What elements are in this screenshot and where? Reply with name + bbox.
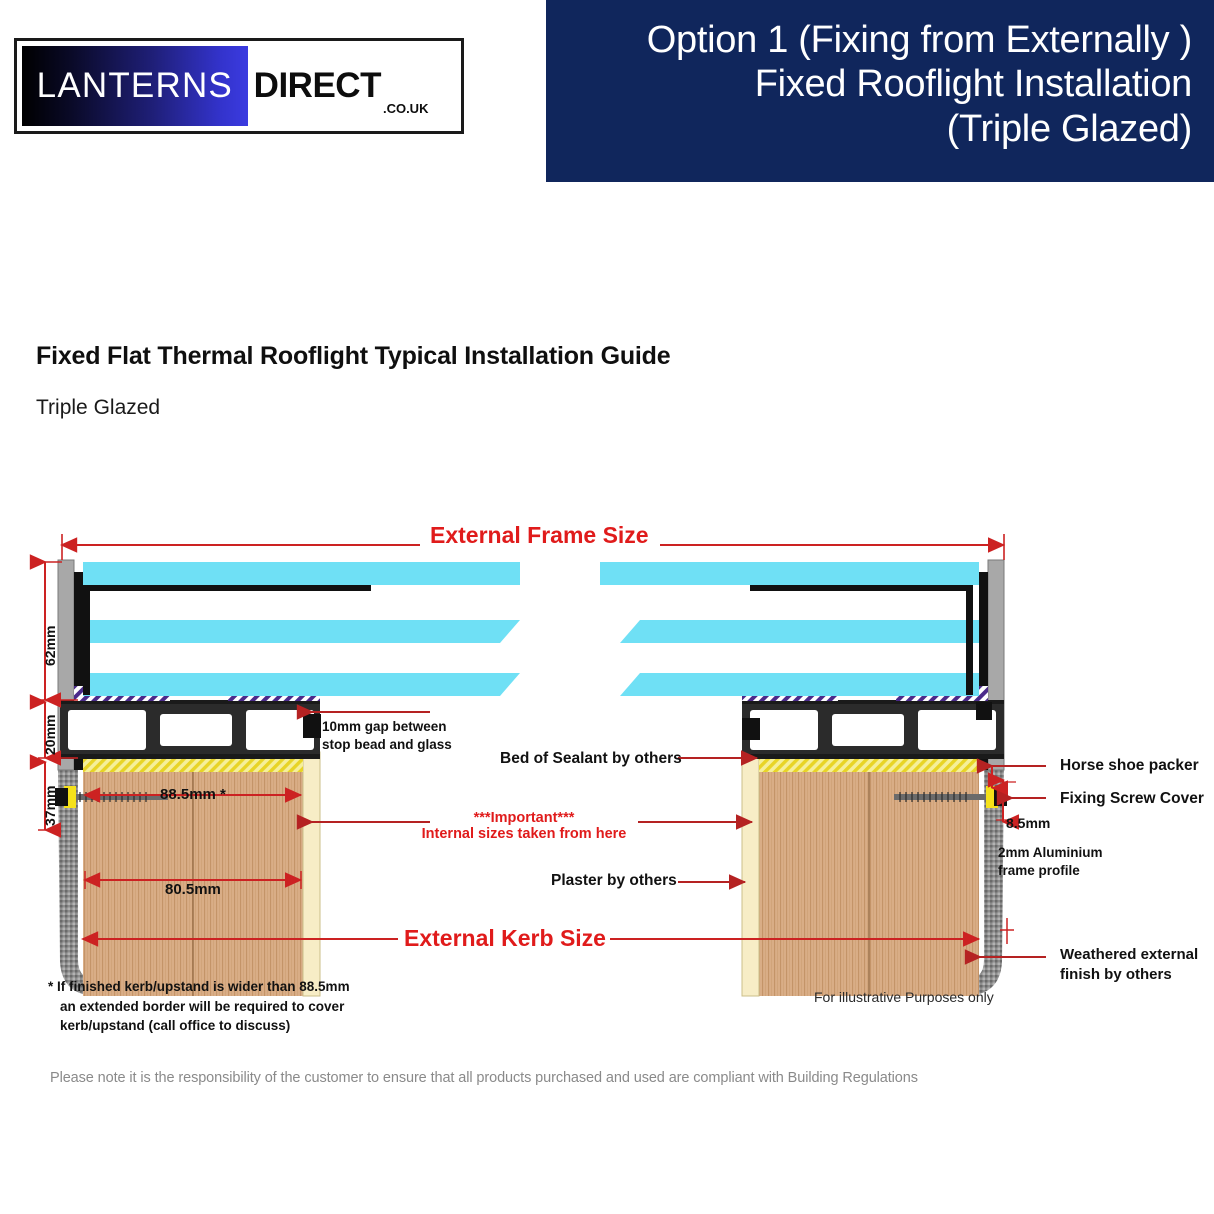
callout-horse-shoe-packer: Horse shoe packer (1060, 757, 1199, 775)
illustrative-purposes-note: For illustrative Purposes only (814, 989, 994, 1005)
glass-pane-inner-left (83, 673, 520, 696)
important-note-line2: Internal sizes taken from here (409, 826, 639, 842)
glass-pane-inner-right (620, 673, 979, 696)
callout-aluminium-profile-line1: 2mm Aluminium (998, 844, 1128, 862)
glass-pane-outer-left (83, 562, 520, 585)
callout-bed-of-sealant: Bed of Sealant by others (500, 750, 682, 768)
right-assembly (600, 560, 1007, 996)
callout-weathered-finish: Weathered external finish by others (1060, 945, 1210, 986)
aluminium-extrusion-right (742, 700, 1004, 759)
dim-80-5mm-label: 80.5mm (165, 881, 221, 898)
glass-pane-middle-right (620, 620, 979, 643)
important-note-line1: ***Important*** (429, 810, 619, 826)
external-frame-size-label: External Frame Size (430, 522, 649, 549)
kerb-footnote: * If finished kerb/upstand is wider than… (48, 977, 378, 1036)
kerb-footnote-line3: kerb/upstand (call office to discuss) (48, 1016, 378, 1036)
callout-aluminium-profile: 2mm Aluminium frame profile (998, 844, 1128, 880)
callout-stop-bead-gap-line2: stop bead and glass (322, 736, 462, 754)
footer-disclaimer: Please note it is the responsibility of … (50, 1070, 918, 1086)
installation-guide-page: LANTERNS DIRECT .CO.UK Option 1 (Fixing … (0, 0, 1214, 1214)
callout-aluminium-profile-line2: frame profile (998, 862, 1128, 880)
glass-spacer-top-right (750, 585, 972, 591)
plaster-left (303, 752, 320, 996)
plaster-right (742, 752, 759, 996)
glass-spacer-vert-right (966, 585, 973, 695)
callout-fixing-screw-cover: Fixing Screw Cover (1060, 790, 1204, 808)
dim-20mm-label: 20mm (42, 715, 58, 755)
external-kerb-size-label: External Kerb Size (404, 925, 606, 952)
glass-pane-outer-right (600, 562, 979, 585)
glass-pane-middle-left (83, 620, 520, 643)
callout-stop-bead-gap: 10mm gap between stop bead and glass (322, 718, 462, 754)
kerb-footnote-line2: an extended border will be required to c… (48, 997, 378, 1017)
callout-weathered-finish-line2: finish by others (1060, 965, 1210, 985)
stop-bead-right (742, 718, 760, 740)
kerb-footnote-line1: * If finished kerb/upstand is wider than… (48, 977, 378, 997)
callout-stop-bead-gap-line1: 10mm gap between (322, 718, 462, 736)
dim-88-5mm-label: 88.5mm * (160, 786, 226, 803)
fixing-screw-cover-right (994, 788, 1007, 806)
glass-spacer-top-left (83, 585, 371, 591)
dim-62mm-label: 62mm (42, 626, 58, 666)
dim-37mm-label: 37mm (42, 786, 58, 826)
aluminium-extrusion-left (60, 700, 320, 759)
callout-weathered-finish-line1: Weathered external (1060, 945, 1210, 965)
callout-plaster: Plaster by others (551, 872, 677, 890)
stop-bead-left (303, 714, 321, 738)
important-internal-sizes-note: ***Important*** Internal sizes taken fro… (429, 810, 619, 842)
glass-spacer-vert-left (83, 585, 90, 695)
dim-8-5mm-label: 8.5mm (1006, 815, 1050, 831)
